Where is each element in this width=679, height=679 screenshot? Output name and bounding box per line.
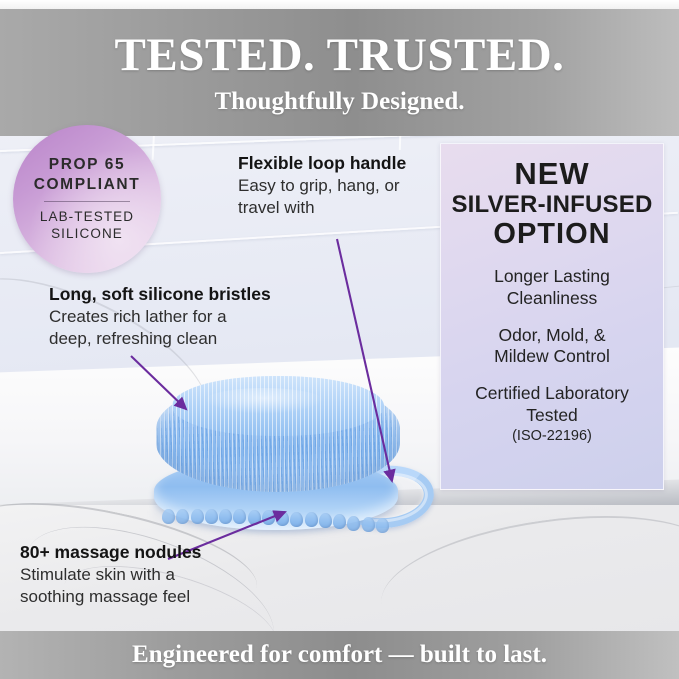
panel-benefit: Certified LaboratoryTested	[451, 383, 653, 426]
massage-nodule	[362, 517, 375, 532]
massage-nodule	[262, 510, 275, 525]
massage-nodule	[191, 509, 204, 524]
prop65-badge: PROP 65 COMPLIANT LAB-TESTED SILICONE	[13, 125, 161, 273]
massage-nodule	[305, 512, 318, 527]
callout-nodules: 80+ massage nodules Stimulate skin with …	[20, 541, 201, 609]
massage-nodule	[248, 510, 261, 525]
badge-line-1: PROP 65	[34, 155, 141, 174]
panel-benefit: Longer LastingCleanliness	[451, 266, 653, 309]
massage-nodule	[376, 518, 389, 533]
callout-body: Easy to grip, hang, ortravel with	[238, 175, 406, 220]
page-title: TESTED. TRUSTED.	[115, 32, 565, 79]
massage-nodule	[233, 509, 246, 524]
silver-infused-panel: NEW SILVER-INFUSED OPTION Longer Lasting…	[440, 143, 664, 490]
massage-nodule	[205, 509, 218, 524]
callout-title: Flexible loop handle	[238, 152, 406, 175]
bottom-banner: Engineered for comfort — built to last.	[0, 631, 679, 679]
panel-title-silver: SILVER-INFUSED	[451, 192, 653, 219]
bristle-highlight	[204, 388, 324, 414]
callout-loop-handle: Flexible loop handle Easy to grip, hang,…	[238, 152, 406, 220]
massage-nodule	[290, 512, 303, 527]
massage-nodule	[176, 509, 189, 524]
top-banner: TESTED. TRUSTED. Thoughtfully Designed.	[0, 9, 679, 136]
massage-nodule	[276, 511, 289, 526]
massage-nodules	[162, 498, 392, 524]
page-subtitle: Thoughtfully Designed.	[214, 89, 464, 114]
badge-divider	[44, 201, 130, 202]
badge-line-4: SILICONE	[40, 225, 134, 242]
callout-title: 80+ massage nodules	[20, 541, 201, 564]
callout-title: Long, soft silicone bristles	[49, 283, 271, 306]
bottom-banner-text: Engineered for comfort — built to last.	[132, 641, 547, 669]
massage-nodule	[219, 509, 232, 524]
panel-title-new: NEW	[451, 158, 653, 191]
infographic-canvas: TESTED. TRUSTED. Thoughtfully Designed. …	[0, 0, 679, 679]
badge-line-2: COMPLIANT	[34, 175, 141, 194]
massage-nodule	[319, 513, 332, 528]
callout-body: Stimulate skin with asoothing massage fe…	[20, 564, 201, 609]
massage-nodule	[162, 509, 175, 524]
callout-body: Creates rich lather for adeep, refreshin…	[49, 306, 271, 351]
badge-subheading: LAB-TESTED SILICONE	[40, 208, 134, 243]
silicone-body-brush	[146, 372, 416, 542]
badge-heading: PROP 65 COMPLIANT	[34, 155, 141, 194]
massage-nodule	[347, 516, 360, 531]
panel-benefit: Odor, Mold, &Mildew Control	[451, 325, 653, 368]
top-white-strip	[0, 0, 679, 9]
callout-bristles: Long, soft silicone bristles Creates ric…	[49, 283, 271, 351]
panel-title-option: OPTION	[451, 219, 653, 251]
panel-iso-standard: (ISO-22196)	[451, 428, 653, 445]
badge-line-3: LAB-TESTED	[40, 208, 134, 225]
